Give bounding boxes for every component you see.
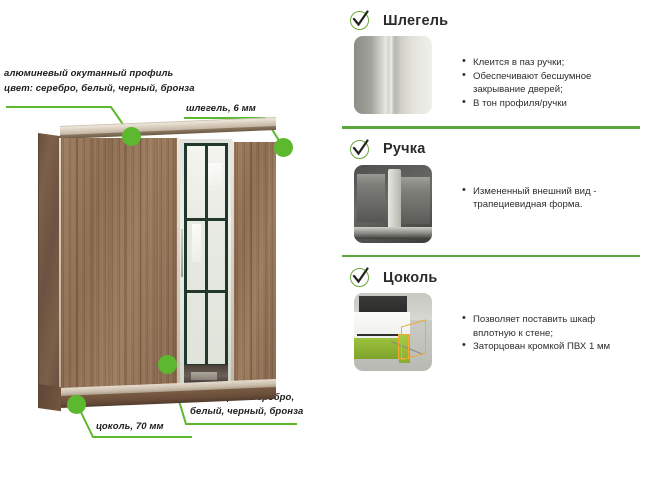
check-circle-icon (350, 11, 369, 30)
feature-header-shlegel: Шлегель (342, 0, 640, 36)
handle-photo-rail (354, 227, 432, 239)
callout-profile-line2: цвет: серебро, белый, черный, бронза (4, 83, 195, 96)
feature-title-plinth: Цоколь (383, 270, 438, 286)
callout-dot-handles (158, 355, 177, 374)
mullion-horizontal-upper (187, 218, 225, 221)
wardrobe-door-right (234, 142, 276, 388)
bullet-item: Позволяет поставить шкаф вплотную к стен… (462, 313, 640, 340)
callout-shlegel-line1: шлегель, 6 мм (186, 103, 256, 116)
glass-reflection-1 (192, 224, 202, 261)
callout-dot-plinth (67, 395, 86, 414)
mullion-horizontal-lower (187, 290, 225, 293)
door-edge-left (59, 138, 61, 392)
bullet-item: Клеится в паз ручки; (462, 56, 640, 70)
door-handle-profile (181, 229, 183, 277)
callout-dot-profile (122, 127, 141, 146)
feature-title-shlegel: Шлегель (383, 13, 448, 29)
plinth-side (38, 384, 61, 411)
glass-reflection-2 (208, 163, 222, 185)
callout-handles-line2: белый, черный, бронза (190, 406, 303, 419)
features-panel: Шлегель Клеится в паз ручки; Обеспечиваю… (330, 0, 652, 500)
feature-body-handle: Измененный внешний вид - трапециевидная … (342, 165, 640, 255)
feature-body-shlegel: Клеится в паз ручки; Обеспечивают бесшум… (342, 36, 640, 126)
feature-section-plinth: Цоколь Позволяет поставить шкаф вплотную… (342, 257, 640, 383)
handle-profile-shape (388, 169, 400, 231)
check-circle-icon (350, 140, 369, 159)
mirror-rug-reflection (191, 372, 217, 380)
bullet-item: В тон профиля/ручки (462, 97, 640, 111)
feature-section-handle: Ручка Измененный внешний вид - трапециев… (342, 129, 640, 258)
wardrobe-render (38, 126, 276, 398)
feature-header-handle: Ручка (342, 129, 640, 165)
callout-profile-line1: алюминевый окутанный профиль (4, 68, 173, 81)
check-circle-icon (350, 268, 369, 287)
feature-bullets-handle: Измененный внешний вид - трапециевидная … (462, 165, 640, 212)
wardrobe-door-center-mirror (180, 139, 232, 389)
handle-photo-panel-left (357, 174, 385, 222)
bullet-item: Измененный внешний вид - трапециевидная … (462, 185, 640, 212)
plinth-photo-dark-top (359, 296, 407, 313)
feature-bullets-shlegel: Клеится в паз ручки; Обеспечивают бесшум… (462, 36, 640, 110)
feature-bullets-plinth: Позволяет поставить шкаф вплотную к стен… (462, 293, 640, 354)
callout-dot-shlegel (274, 138, 293, 157)
bullet-item: Заторцован кромкой ПВХ 1 мм (462, 340, 640, 354)
feature-header-plinth: Цоколь (342, 257, 640, 293)
shlegel-photo-thumbnail (354, 36, 432, 114)
wardrobe-door-left (60, 138, 178, 392)
plinth-annotation-box-2 (398, 334, 409, 359)
callout-plinth-line1: цоколь, 70 мм (96, 421, 164, 434)
mirror-frame (184, 143, 228, 367)
plinth-photo-thumbnail (354, 293, 432, 371)
feature-section-shlegel: Шлегель Клеится в паз ручки; Обеспечиваю… (342, 0, 640, 129)
feature-title-handle: Ручка (383, 141, 425, 157)
shlegel-seam (385, 36, 392, 114)
wardrobe-illustration-panel: алюминевый окутанный профиль цвет: сереб… (0, 0, 330, 500)
handle-photo-thumbnail (354, 165, 432, 243)
bullet-item: Обеспечивают бесшумное закрывание дверей… (462, 70, 640, 97)
feature-body-plinth: Позволяет поставить шкаф вплотную к стен… (342, 293, 640, 383)
handle-photo-panel-right (401, 177, 431, 224)
